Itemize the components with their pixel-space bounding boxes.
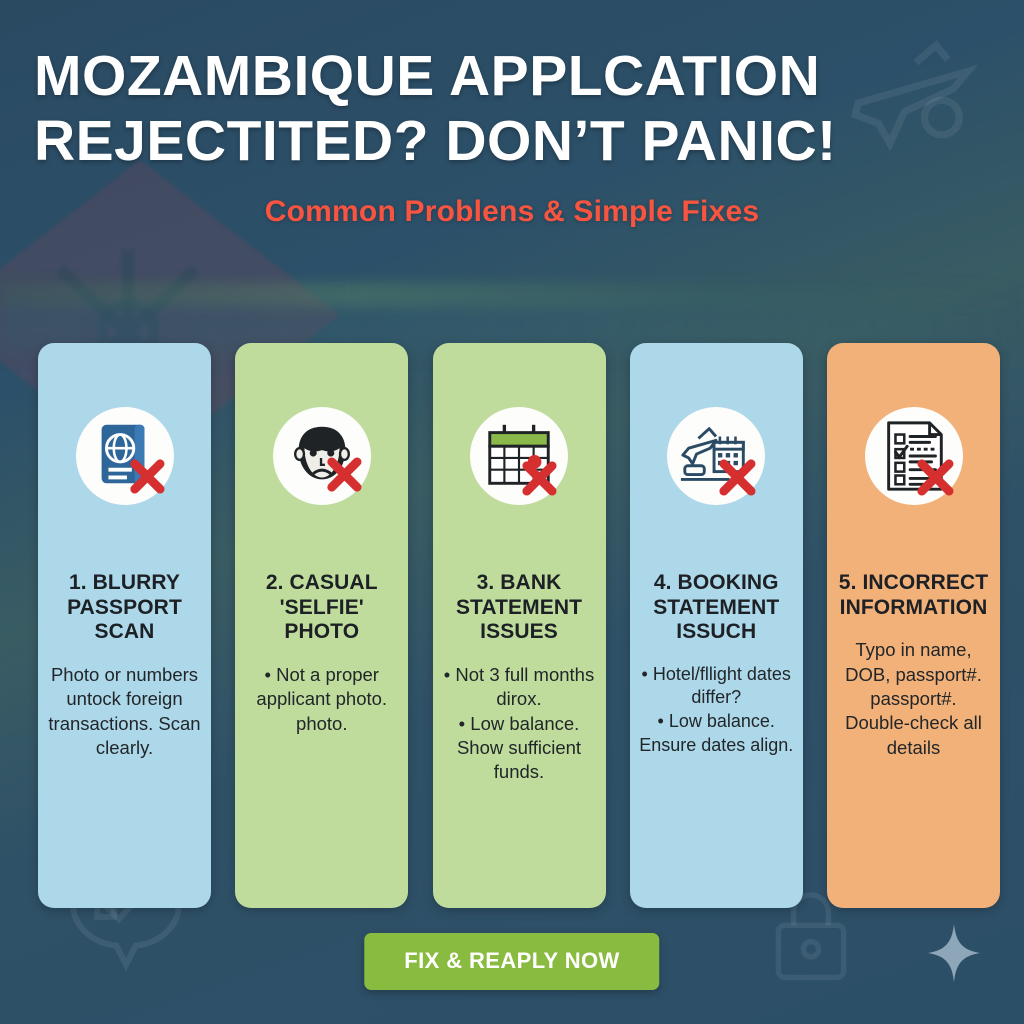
card-body-3: • Not 3 full months dirox. • Low balance… xyxy=(441,663,598,785)
card-title-1: 1. BLURRY PASSPORT SCAN xyxy=(46,571,203,645)
infographic-poster: MOZAMBIQUE APPLCATION REJECTITED? DON’T … xyxy=(0,0,1024,1024)
poster-header: MOZAMBIQUE APPLCATION REJECTITED? DON’T … xyxy=(0,0,1024,229)
icon-badge-3 xyxy=(470,407,568,505)
problem-card-2[interactable]: 2. CASUAL 'SELFIE' PHOTO • Not a proper … xyxy=(235,343,408,908)
problem-card-5[interactable]: 5. INCORRECT INFORMATION Typo in name, D… xyxy=(827,343,1000,908)
passport-icon xyxy=(86,417,164,495)
page-title-line-1: MOZAMBIQUE APPLCATION xyxy=(34,44,990,109)
card-body-1: Photo or numbers untock foreign transact… xyxy=(46,663,203,761)
problem-card-4[interactable]: 4. BOOKING STATEMENT ISSUCH • Hotel/flli… xyxy=(630,343,803,908)
problem-cards-row: 1. BLURRY PASSPORT SCAN Photo or numbers… xyxy=(38,343,1000,908)
flight-booking-icon xyxy=(677,417,755,495)
card-title-3: 3. BANK STATEMENT ISSUES xyxy=(441,571,598,645)
red-cross-icon xyxy=(332,462,357,487)
icon-badge-1 xyxy=(76,407,174,505)
icon-badge-4 xyxy=(667,407,765,505)
card-body-5: Typo in name, DOB, passport#. passport#.… xyxy=(835,638,992,760)
checklist-document-icon xyxy=(875,417,953,495)
flag-green-band xyxy=(0,282,1024,308)
problem-card-1[interactable]: 1. BLURRY PASSPORT SCAN Photo or numbers… xyxy=(38,343,211,908)
face-photo-icon xyxy=(283,417,361,495)
page-title-line-2: REJECTITED? DON’T PANIC! xyxy=(34,109,990,174)
card-body-4: • Hotel/fllight dates differ? • Low bala… xyxy=(638,663,795,758)
icon-badge-5 xyxy=(865,407,963,505)
card-body-2: • Not a proper applicant photo. photo. xyxy=(243,663,400,736)
calendar-icon xyxy=(480,417,558,495)
card-title-5: 5. INCORRECT INFORMATION xyxy=(835,571,992,620)
icon-badge-2 xyxy=(273,407,371,505)
page-subtitle: Common Problens & Simple Fixes xyxy=(34,195,990,229)
fix-and-reapply-button[interactable]: FIX & REAPLY NOW xyxy=(364,933,659,990)
page-title: MOZAMBIQUE APPLCATION REJECTITED? DON’T … xyxy=(34,44,990,174)
sparkle-icon xyxy=(928,924,980,982)
problem-card-3[interactable]: 3. BANK STATEMENT ISSUES • Not 3 full mo… xyxy=(433,343,606,908)
card-title-4: 4. BOOKING STATEMENT ISSUCH xyxy=(638,571,795,645)
card-title-2: 2. CASUAL 'SELFIE' PHOTO xyxy=(243,571,400,645)
